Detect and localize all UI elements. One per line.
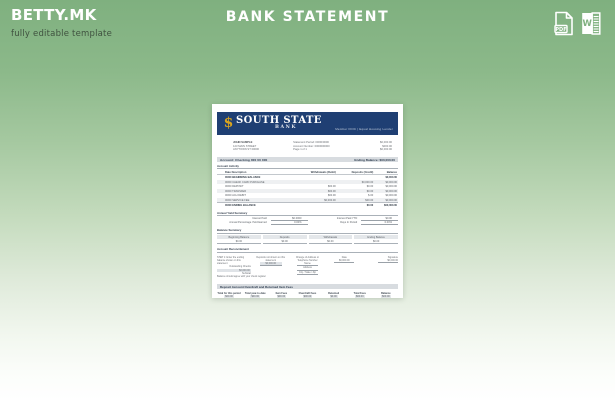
customer-city: ANYTOWN ST 00000 bbox=[233, 148, 293, 152]
overdraft-column: Balance $00.00 bbox=[374, 292, 398, 298]
row-credit: $0.00 bbox=[337, 203, 374, 208]
overdraft-column-value: $0.00 bbox=[330, 295, 338, 298]
interest-summary-title: Annual Yield Summary bbox=[217, 211, 398, 217]
statement-page: Page 1 of 1 bbox=[293, 148, 364, 152]
balance-cell-header: Ending Balance bbox=[354, 235, 398, 239]
overdraft-section-band: Deposit Account Overdraft and Returned I… bbox=[217, 284, 398, 289]
pdf-download-icon[interactable]: PDF bbox=[554, 11, 574, 36]
reconcile-signature-value: $0,000.00 bbox=[378, 259, 398, 263]
reconcile-step1: STEP 1: Enter the ending balance shown o… bbox=[217, 256, 251, 266]
row-balance: $00,000.00 bbox=[374, 203, 398, 208]
bank-meta-text: Member FDIC | Equal Housing Lender bbox=[335, 128, 393, 132]
bank-header-band: $ SOUTH STATE BANK Member FDIC | Equal H… bbox=[217, 112, 398, 135]
apy-label: Annual Percentage Yield Earned bbox=[217, 221, 271, 225]
reconcile-date-col: Date $0,000.00 bbox=[327, 256, 361, 263]
account-label: Account: Checking 000 00 000 bbox=[220, 158, 354, 162]
overdraft-column-value: $00.00 bbox=[277, 295, 287, 298]
overdraft-column-value: $00.00 bbox=[250, 295, 260, 298]
reconcile-deposits-col: Deposits not shown on this statement $0,… bbox=[254, 256, 288, 267]
overdraft-column: Total Fees $00.00 bbox=[348, 292, 372, 298]
bank-logo-icon: $ bbox=[223, 116, 234, 131]
overdraft-column: Returned $0.00 bbox=[322, 292, 346, 298]
table-row: 00/00 ENDING BALANCE $0.00 $00,000.00 bbox=[217, 203, 398, 208]
amount-3: $0,000.00 bbox=[364, 148, 392, 152]
document-preview[interactable]: $ SOUTH STATE BANK Member FDIC | Equal H… bbox=[212, 104, 403, 298]
apy-value: 0.00% bbox=[271, 221, 308, 225]
reconcile-value-2: $0,000.00 bbox=[260, 262, 282, 266]
reconcile-date-value: $0,000.00 bbox=[334, 259, 354, 263]
reconcilement-row: STEP 1: Enter the ending balance shown o… bbox=[217, 256, 398, 275]
balance-cell: Ending Balance $0.00 bbox=[354, 235, 398, 244]
balance-cell-value: $0.00 bbox=[354, 240, 398, 244]
overdraft-column-value: $00.00 bbox=[303, 295, 313, 298]
balance-cell-value: $0.00 bbox=[217, 240, 261, 244]
address-block: JOHN SAMPLE 123 MAIN STREET ANYTOWN ST 0… bbox=[219, 141, 396, 152]
customer-address: JOHN SAMPLE 123 MAIN STREET ANYTOWN ST 0… bbox=[219, 141, 293, 152]
balance-cell-value: $0.00 bbox=[309, 240, 353, 244]
svg-text:W: W bbox=[583, 19, 593, 29]
balance-cell: Withdrawals $0.00 bbox=[309, 235, 353, 244]
reconcile-center-col: Change of Address or Telephone Number Na… bbox=[291, 256, 325, 275]
interest-summary-row-2: Annual Percentage Yield Earned 0.00% Day… bbox=[217, 221, 398, 225]
reconcilement-title: Account Reconcilement bbox=[217, 247, 398, 253]
balance-summary-grid: Beginning Balance $0.00 Deposits $0.00 W… bbox=[217, 235, 398, 244]
change-field-city: City / State / Zip bbox=[297, 271, 317, 275]
overdraft-column: Item Fees $00.00 bbox=[269, 292, 293, 298]
overdraft-column-value: $00.00 bbox=[224, 295, 234, 298]
balance-cell-header: Beginning Balance bbox=[217, 235, 261, 239]
overdraft-column: Total year-to-date $00.00 bbox=[243, 292, 267, 298]
ending-balance-label: Ending Balance: $00,000.00 bbox=[354, 158, 395, 162]
overdraft-column-value: $00.00 bbox=[381, 295, 391, 298]
overdraft-column-value: $00.00 bbox=[355, 295, 365, 298]
row-debit bbox=[294, 203, 337, 208]
apy-group: Annual Percentage Yield Earned 0.00% bbox=[217, 221, 308, 225]
top-bar: BETTY.MK fully editable template BANK ST… bbox=[0, 0, 615, 52]
reconcile-closing-note: Balance should agree with your check reg… bbox=[217, 275, 398, 278]
reconcile-left-col: STEP 1: Enter the ending balance shown o… bbox=[217, 256, 251, 275]
statement-info: Statement Period: 00/00/0000 Account Num… bbox=[293, 141, 364, 152]
page-title: BANK STATEMENT bbox=[0, 9, 615, 25]
download-icons-group: PDF W bbox=[554, 11, 601, 36]
days-in-period-label: Days In Period bbox=[308, 221, 362, 225]
bank-subtitle: BANK bbox=[275, 125, 297, 130]
reconcile-signature-col: Signature $0,000.00 bbox=[364, 256, 398, 263]
word-download-icon[interactable]: W bbox=[581, 11, 601, 36]
overdraft-columns: Total for this period $00.00 Total year-… bbox=[217, 292, 398, 298]
document-top-margin bbox=[212, 104, 403, 112]
balance-cell-header: Deposits bbox=[263, 235, 307, 239]
days-in-period-group: Days In Period 0.00% bbox=[308, 221, 399, 225]
balance-cell-header: Withdrawals bbox=[309, 235, 353, 239]
overdraft-column: Overdraft Fees $00.00 bbox=[295, 292, 319, 298]
brand-tagline: fully editable template bbox=[11, 29, 112, 39]
transactions-table: Date Description Withdrawals (Debit) Dep… bbox=[217, 170, 398, 208]
svg-text:PDF: PDF bbox=[555, 27, 566, 33]
balance-cell: Deposits $0.00 bbox=[263, 235, 307, 244]
row-description: 00/00 ENDING BALANCE bbox=[217, 203, 294, 208]
balance-summary-title: Balance Summary bbox=[217, 228, 398, 234]
transactions-section-title: Account Activity bbox=[217, 164, 398, 170]
days-in-period-value: 0.00% bbox=[361, 221, 398, 225]
balance-cell: Beginning Balance $0.00 bbox=[217, 235, 261, 244]
balance-cell-value: $0.00 bbox=[263, 240, 307, 244]
statement-amounts: $0,000.00 $000.00 $0,000.00 bbox=[364, 141, 396, 152]
reconcilement-block: STEP 1: Enter the ending balance shown o… bbox=[217, 256, 398, 278]
account-summary-bar: Account: Checking 000 00 000 Ending Bala… bbox=[217, 157, 398, 163]
overdraft-column: Total for this period $00.00 bbox=[217, 292, 241, 298]
